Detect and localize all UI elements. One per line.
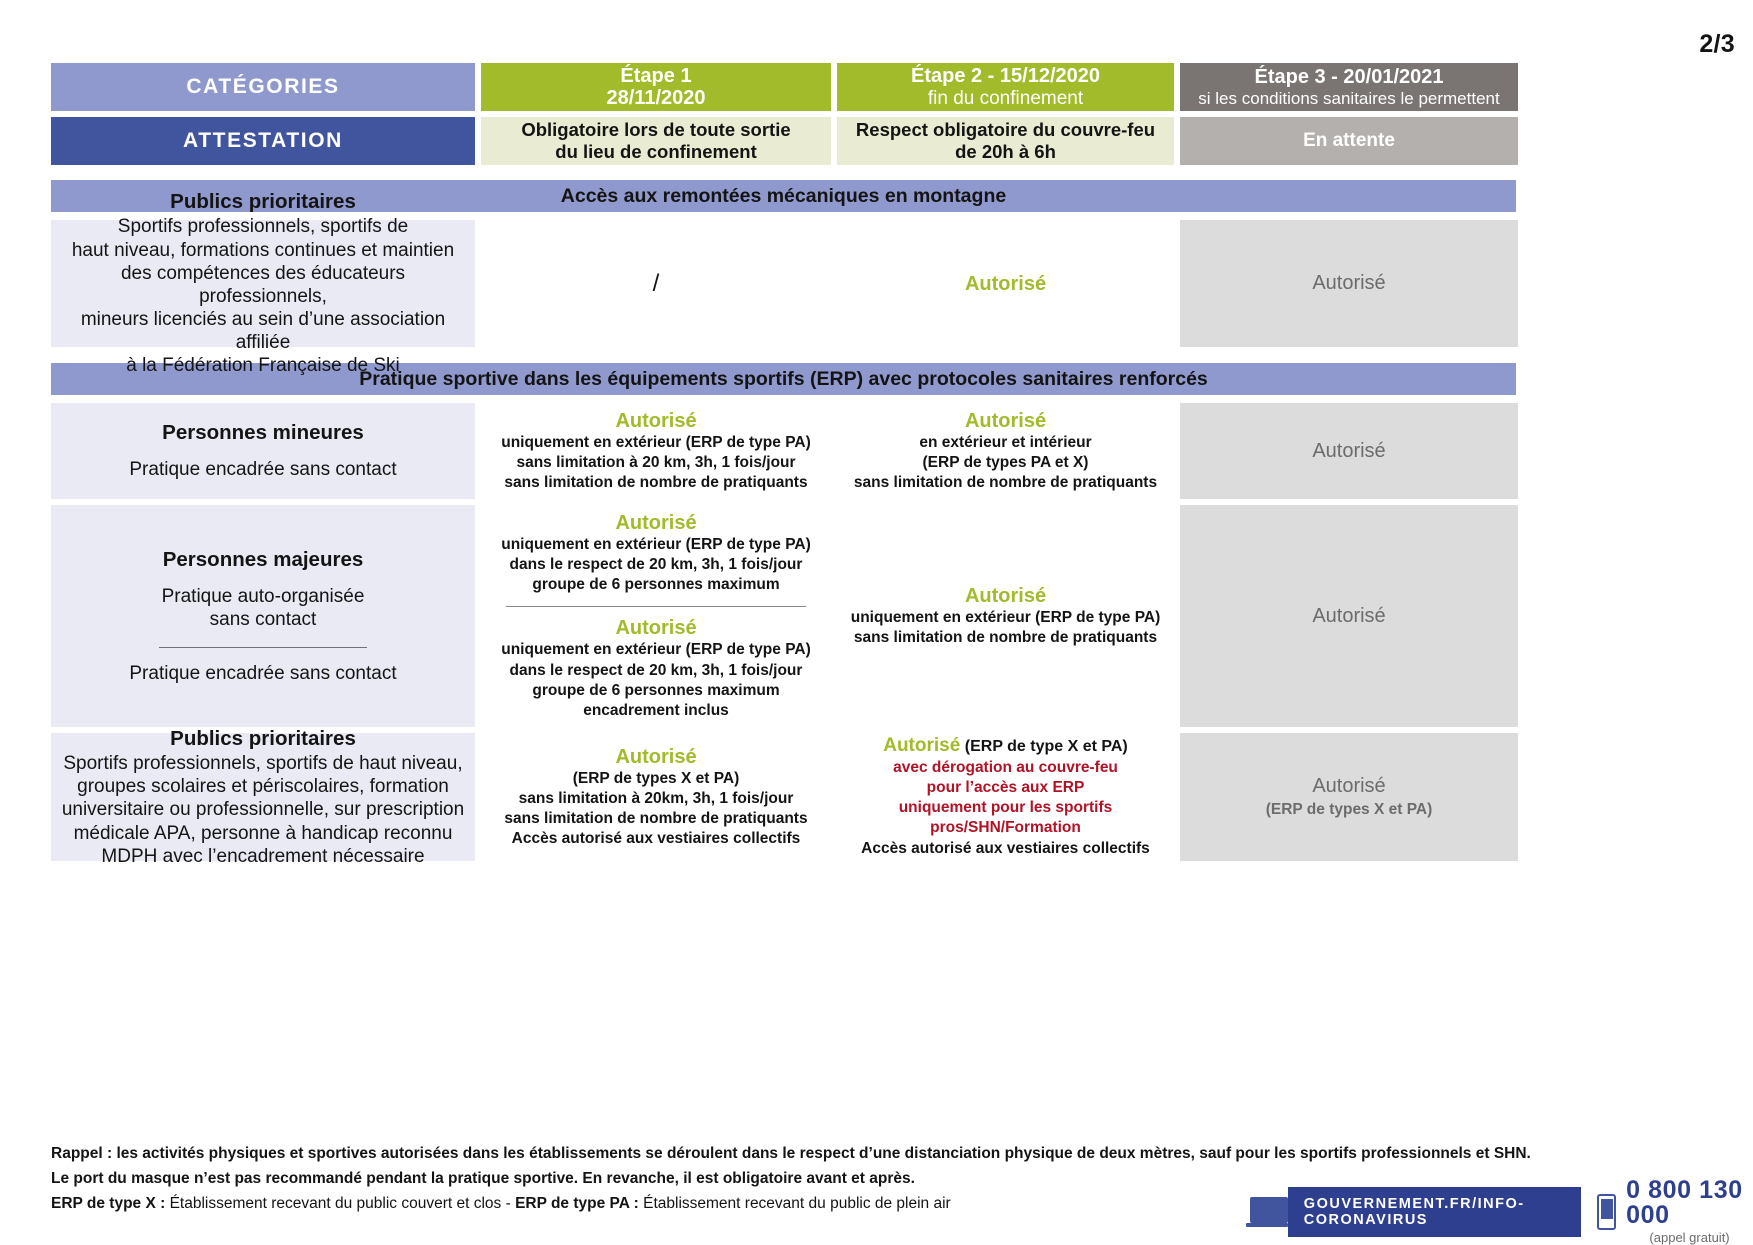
cell-ski-etape2: Autorisé — [837, 220, 1174, 347]
derogation-line: avec dérogation au couvre-feu — [893, 758, 1118, 778]
detail-line: uniquement en extérieur (ERP de type PA) — [501, 433, 811, 453]
category-title: Personnes majeures — [163, 547, 364, 572]
etape-1-subtitle: 28/11/2020 — [607, 87, 706, 109]
etape-2-subtitle: fin du confinement — [928, 88, 1083, 109]
table-row-ski-publics: Publics prioritaires Sportifs profession… — [51, 220, 1516, 347]
status-suffix: (ERP de type X et PA) — [960, 738, 1127, 755]
cell-mineures-etape3: Autorisé — [1180, 403, 1518, 499]
status-badge: Autorisé — [1312, 605, 1385, 628]
detail-line: dans le respect de 20 km, 3h, 1 fois/jou… — [510, 661, 803, 681]
status-badge: Autorisé — [965, 409, 1046, 433]
header-etape-3: Étape 3 - 20/01/2021 si les conditions s… — [1180, 63, 1518, 111]
etape-3-subtitle: si les conditions sanitaires le permette… — [1198, 89, 1499, 108]
etape-3-title: Étape 3 - 20/01/2021 — [1254, 66, 1443, 88]
detail-line: en extérieur et intérieur — [919, 433, 1091, 453]
status-badge: Autorisé — [615, 511, 696, 535]
category-divider — [159, 647, 367, 648]
erp-pa-label: ERP de type PA : — [515, 1195, 639, 1212]
government-contact-block: GOUVERNEMENT.FR/INFO-CORONAVIRUS 0 800 1… — [1246, 1178, 1753, 1245]
detail-line: Accès autorisé aux vestiaires collectifs — [512, 829, 801, 849]
table-row-mineures: Personnes mineures Pratique encadrée san… — [51, 403, 1516, 499]
derogation-line: uniquement pour les sportifs — [899, 798, 1113, 818]
attestation-row: ATTESTATION Obligatoire lors de toute so… — [51, 117, 1516, 165]
attestation-etape-1-line1: Obligatoire lors de toute sortie — [521, 119, 790, 141]
cell-mineures-etape1: Autorisé uniquement en extérieur (ERP de… — [481, 403, 831, 499]
status-badge: Autorisé — [1312, 440, 1385, 463]
detail-line: uniquement en extérieur (ERP de type PA) — [501, 535, 811, 555]
attestation-etape-2: Respect obligatoire du couvre-feu de 20h… — [837, 117, 1174, 165]
erp-x-label: ERP de type X : — [51, 1195, 165, 1212]
attestation-etape-3: En attente — [1180, 117, 1518, 165]
cell-majeures-etape1: Autorisé uniquement en extérieur (ERP de… — [481, 505, 831, 727]
category-ski-publics: Publics prioritaires Sportifs profession… — [51, 220, 475, 347]
page-number: 2/3 — [1699, 30, 1735, 59]
status-badge: Autorisé — [883, 735, 960, 756]
attestation-etape-3-line1: En attente — [1303, 130, 1395, 152]
phone-info: 0 800 130 000 (appel gratuit) — [1626, 1178, 1753, 1245]
detail-line: sans limitation à 20km, 3h, 1 fois/jour — [519, 789, 794, 809]
detail-line: groupe de 6 personnes maximum — [532, 681, 779, 701]
category-line: MDPH avec l’encadrement nécessaire — [101, 845, 424, 868]
detail-line: sans limitation de nombre de pratiquants — [854, 628, 1157, 648]
attestation-etape-2-line2: de 20h à 6h — [955, 141, 1056, 163]
status-badge: Autorisé — [615, 409, 696, 433]
table-row-publics-prioritaires-erp: Publics prioritaires Sportifs profession… — [51, 733, 1516, 861]
mobile-phone-icon — [1597, 1194, 1616, 1230]
category-line: sans contact — [210, 608, 317, 631]
detail-line: (ERP de types X et PA) — [1266, 801, 1433, 819]
gov-website-link[interactable]: GOUVERNEMENT.FR/INFO-CORONAVIRUS — [1288, 1187, 1581, 1237]
status-badge: Autorisé — [1312, 272, 1385, 295]
detail-line: (ERP de types PA et X) — [923, 453, 1089, 473]
header-categories: CATÉGORIES — [51, 63, 475, 111]
footer-line-1: Rappel : les activités physiques et spor… — [51, 1141, 1711, 1166]
header-etape-2: Étape 2 - 15/12/2020 fin du confinement — [837, 63, 1174, 111]
category-personnes-mineures: Personnes mineures Pratique encadrée san… — [51, 403, 475, 499]
category-line: Pratique encadrée sans contact — [129, 662, 396, 685]
detail-line: sans limitation à 20 km, 3h, 1 fois/jour — [516, 453, 795, 473]
status-badge: Autorisé — [965, 272, 1046, 296]
erp-x-definition: Établissement recevant du public couvert… — [165, 1195, 515, 1212]
status-line: Autorisé (ERP de type X et PA) — [883, 735, 1128, 758]
category-title: Publics prioritaires — [170, 726, 356, 751]
category-title: Publics prioritaires — [170, 189, 356, 214]
category-title: Personnes mineures — [162, 420, 364, 445]
cell-prioritaires-etape1: Autorisé (ERP de types X et PA) sans lim… — [481, 733, 831, 861]
category-line: Sportifs professionnels, sportifs de — [118, 215, 408, 238]
attestation-etape-2-line1: Respect obligatoire du couvre-feu — [856, 119, 1155, 141]
cell-prioritaires-etape2: Autorisé (ERP de type X et PA) avec déro… — [837, 733, 1174, 861]
cell-majeures-etape2: Autorisé uniquement en extérieur (ERP de… — [837, 505, 1174, 727]
detail-line: dans le respect de 20 km, 3h, 1 fois/jou… — [510, 555, 803, 575]
status-badge: Autorisé — [1312, 775, 1385, 798]
detail-line: sans limitation de nombre de pratiquants — [504, 809, 807, 829]
derogation-line: pros/SHN/Formation — [930, 818, 1081, 838]
category-line: Pratique encadrée sans contact — [129, 458, 396, 481]
category-line: groupes scolaires et périscolaires, form… — [77, 775, 449, 798]
status-badge: Autorisé — [615, 745, 696, 769]
cell-ski-etape1: / — [481, 220, 831, 347]
derogation-line: pour l’accès aux ERP — [927, 778, 1085, 798]
cell-divider — [506, 606, 806, 607]
status-not-applicable: / — [653, 270, 660, 298]
category-line: Pratique auto-organisée — [162, 585, 365, 608]
laptop-icon — [1246, 1197, 1278, 1227]
category-personnes-majeures: Personnes majeures Pratique auto-organis… — [51, 505, 475, 727]
detail-line: uniquement en extérieur (ERP de type PA) — [501, 640, 811, 660]
cell-mineures-etape2: Autorisé en extérieur et intérieur (ERP … — [837, 403, 1174, 499]
phone-number: 0 800 130 000 — [1626, 1178, 1753, 1228]
erp-pa-definition: Établissement recevant du public de plei… — [639, 1195, 951, 1212]
table-row-majeures: Personnes majeures Pratique auto-organis… — [51, 505, 1516, 727]
attestation-label: ATTESTATION — [51, 117, 475, 165]
detail-line: uniquement en extérieur (ERP de type PA) — [851, 608, 1161, 628]
category-line: mineurs licenciés au sein d’une associat… — [59, 308, 467, 354]
detail-line: groupe de 6 personnes maximum — [532, 575, 779, 595]
status-badge: Autorisé — [615, 616, 696, 640]
detail-line: sans limitation de nombre de pratiquants — [504, 473, 807, 493]
category-publics-prioritaires-erp: Publics prioritaires Sportifs profession… — [51, 733, 475, 861]
detail-line: sans limitation de nombre de pratiquants — [854, 473, 1157, 493]
document-page: 2/3 CATÉGORIES Étape 1 28/11/2020 Étape … — [0, 0, 1753, 1240]
etape-1-title: Étape 1 — [620, 65, 691, 87]
cell-ski-etape3: Autorisé — [1180, 220, 1518, 347]
detail-line: Accès autorisé aux vestiaires collectifs — [861, 839, 1150, 859]
attestation-etape-1: Obligatoire lors de toute sortie du lieu… — [481, 117, 831, 165]
detail-line: encadrement inclus — [583, 701, 729, 721]
category-line: Sportifs professionnels, sportifs de hau… — [63, 752, 462, 775]
category-line: universitaire ou professionnelle, sur pr… — [62, 798, 464, 821]
table-header-row: CATÉGORIES Étape 1 28/11/2020 Étape 2 - … — [51, 63, 1516, 111]
status-badge: Autorisé — [965, 584, 1046, 608]
category-line: haut niveau, formations continues et mai… — [72, 239, 454, 262]
attestation-etape-1-line2: du lieu de confinement — [555, 141, 756, 163]
phone-free-note: (appel gratuit) — [1626, 1230, 1753, 1245]
cell-majeures-etape3: Autorisé — [1180, 505, 1518, 727]
etape-2-title: Étape 2 - 15/12/2020 — [911, 65, 1100, 87]
category-line: des compétences des éducateurs professio… — [59, 262, 467, 308]
category-line: médicale APA, personne à handicap reconn… — [74, 822, 453, 845]
regulations-table: CATÉGORIES Étape 1 28/11/2020 Étape 2 - … — [51, 63, 1516, 867]
header-etape-1: Étape 1 28/11/2020 — [481, 63, 831, 111]
cell-prioritaires-etape3: Autorisé (ERP de types X et PA) — [1180, 733, 1518, 861]
detail-line: (ERP de types X et PA) — [573, 769, 740, 789]
